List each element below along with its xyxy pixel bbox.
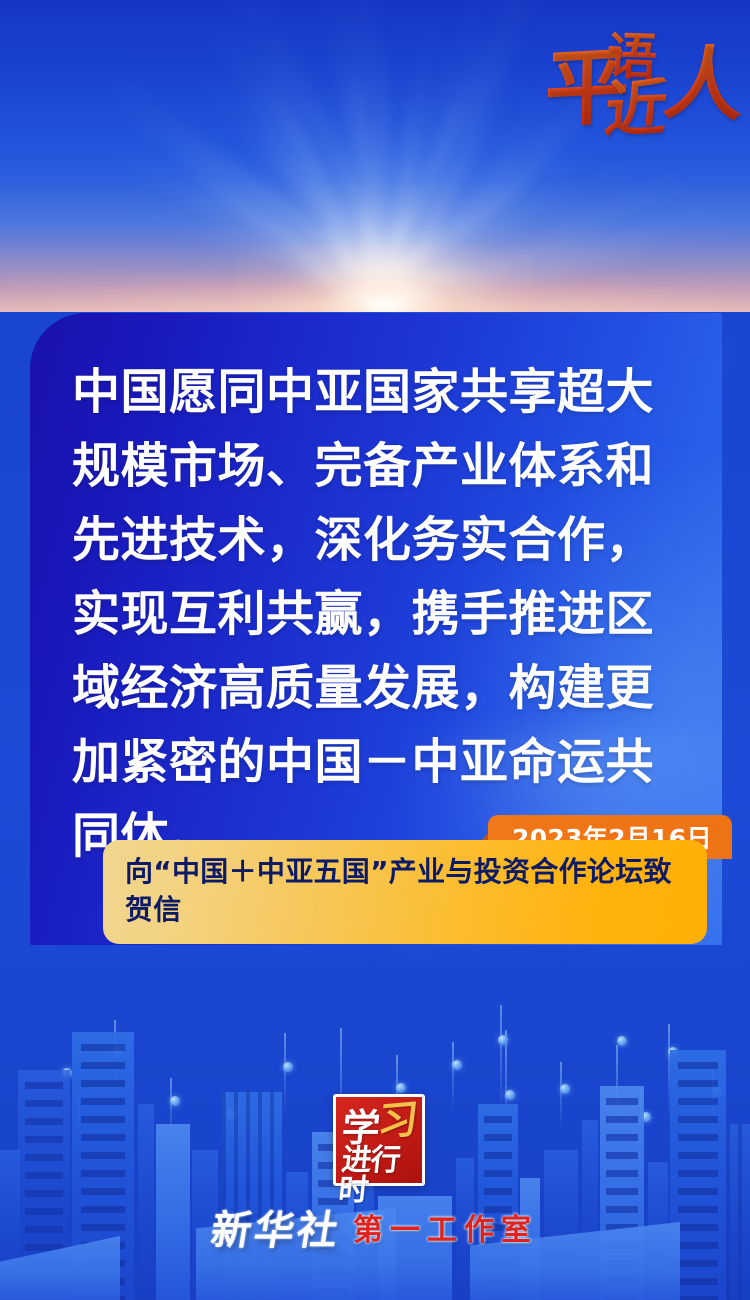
caption-box: 向“中国＋中亚五国”产业与投资合作论坛致贺信 (103, 840, 707, 944)
program-logo-line-jinxingshi: 进行时 (337, 1146, 425, 1206)
agency-studio: 第一工作室 (353, 1205, 538, 1249)
agency-name: 新华社 (207, 1198, 345, 1256)
brand-logo-pingyujinren: 平 语 近 人 (545, 32, 730, 157)
poster-root: 平 语 近 人 中国愿同中亚国家共享超大规模市场、完备产业体系和先进技术，深化务… (0, 0, 750, 1300)
caption-title: 向“中国＋中亚五国”产业与投资合作论坛致贺信 (125, 853, 689, 929)
brand-logo-char-3: 近 (602, 77, 670, 141)
program-logo-char-xi: 习 (376, 1099, 420, 1142)
brand-logo-char-4: 人 (660, 43, 749, 126)
quote-text: 中国愿同中亚国家共享超大规模市场、完备产业体系和先进技术，深化务实合作，实现互利… (72, 355, 692, 873)
program-logo-xuexijinxingshi: 学 习 进行时 (333, 1094, 425, 1186)
agency-credit-line: 新华社第一工作室 (0, 1198, 750, 1256)
